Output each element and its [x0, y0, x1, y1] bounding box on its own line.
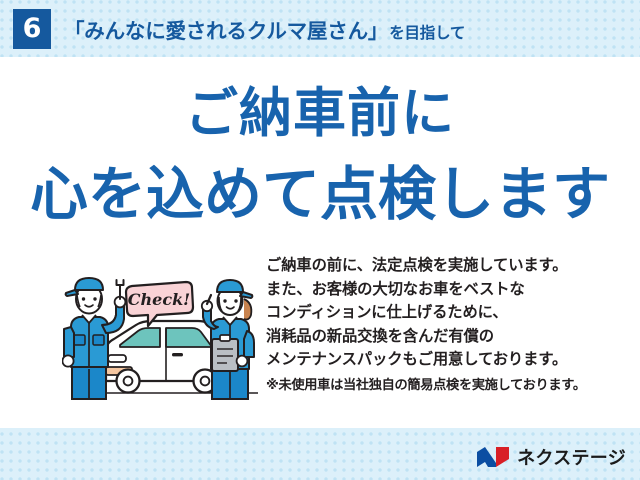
header-title-quoted: 「みんなに愛されるクルマ屋さん」 [64, 14, 388, 44]
brand-footer: ネクステージ [476, 444, 626, 470]
check-speech-bubble: Check! [126, 282, 193, 326]
body-disclaimer-note: ※未使用車は当社独自の簡易点検を実施しております。 [266, 374, 634, 396]
nextage-logo-icon [476, 446, 510, 468]
header-title: 「みんなに愛されるクルマ屋さん」 を目指して [64, 14, 465, 44]
header: 6 「みんなに愛されるクルマ屋さん」 を目指して [0, 0, 640, 57]
body-line: メンテナンスパックもご用意しております。 [266, 348, 634, 372]
body-text-block: ご納車の前に、法定点検を実施しています。 また、お客様の大切なお車をベストな コ… [266, 254, 634, 396]
section-number-badge: 6 [13, 9, 51, 49]
body-line: コンディションに仕上げるために、 [266, 301, 634, 325]
content-panel: ご納車前に 心を込めて点検します ご納車の前に、法定点検を実施しています。 また… [0, 57, 640, 428]
mechanics-illustration: Check! [62, 269, 262, 404]
body-line: ご納車の前に、法定点検を実施しています。 [266, 254, 634, 278]
check-bubble-label: Check! [128, 290, 190, 309]
body-line: 消耗品の新品交換を含んだ有償の [266, 325, 634, 349]
header-title-tail: を目指して [389, 21, 465, 43]
advertisement-page: 6 「みんなに愛されるクルマ屋さん」 を目指して ご納車前に 心を込めて点検しま… [0, 0, 640, 480]
brand-name: ネクステージ [517, 444, 626, 470]
headline-line-1: ご納車前に [0, 87, 640, 140]
body-line: また、お客様の大切なお車をベストな [266, 278, 634, 302]
headline-line-2: 心を込めて点検します [0, 165, 640, 223]
